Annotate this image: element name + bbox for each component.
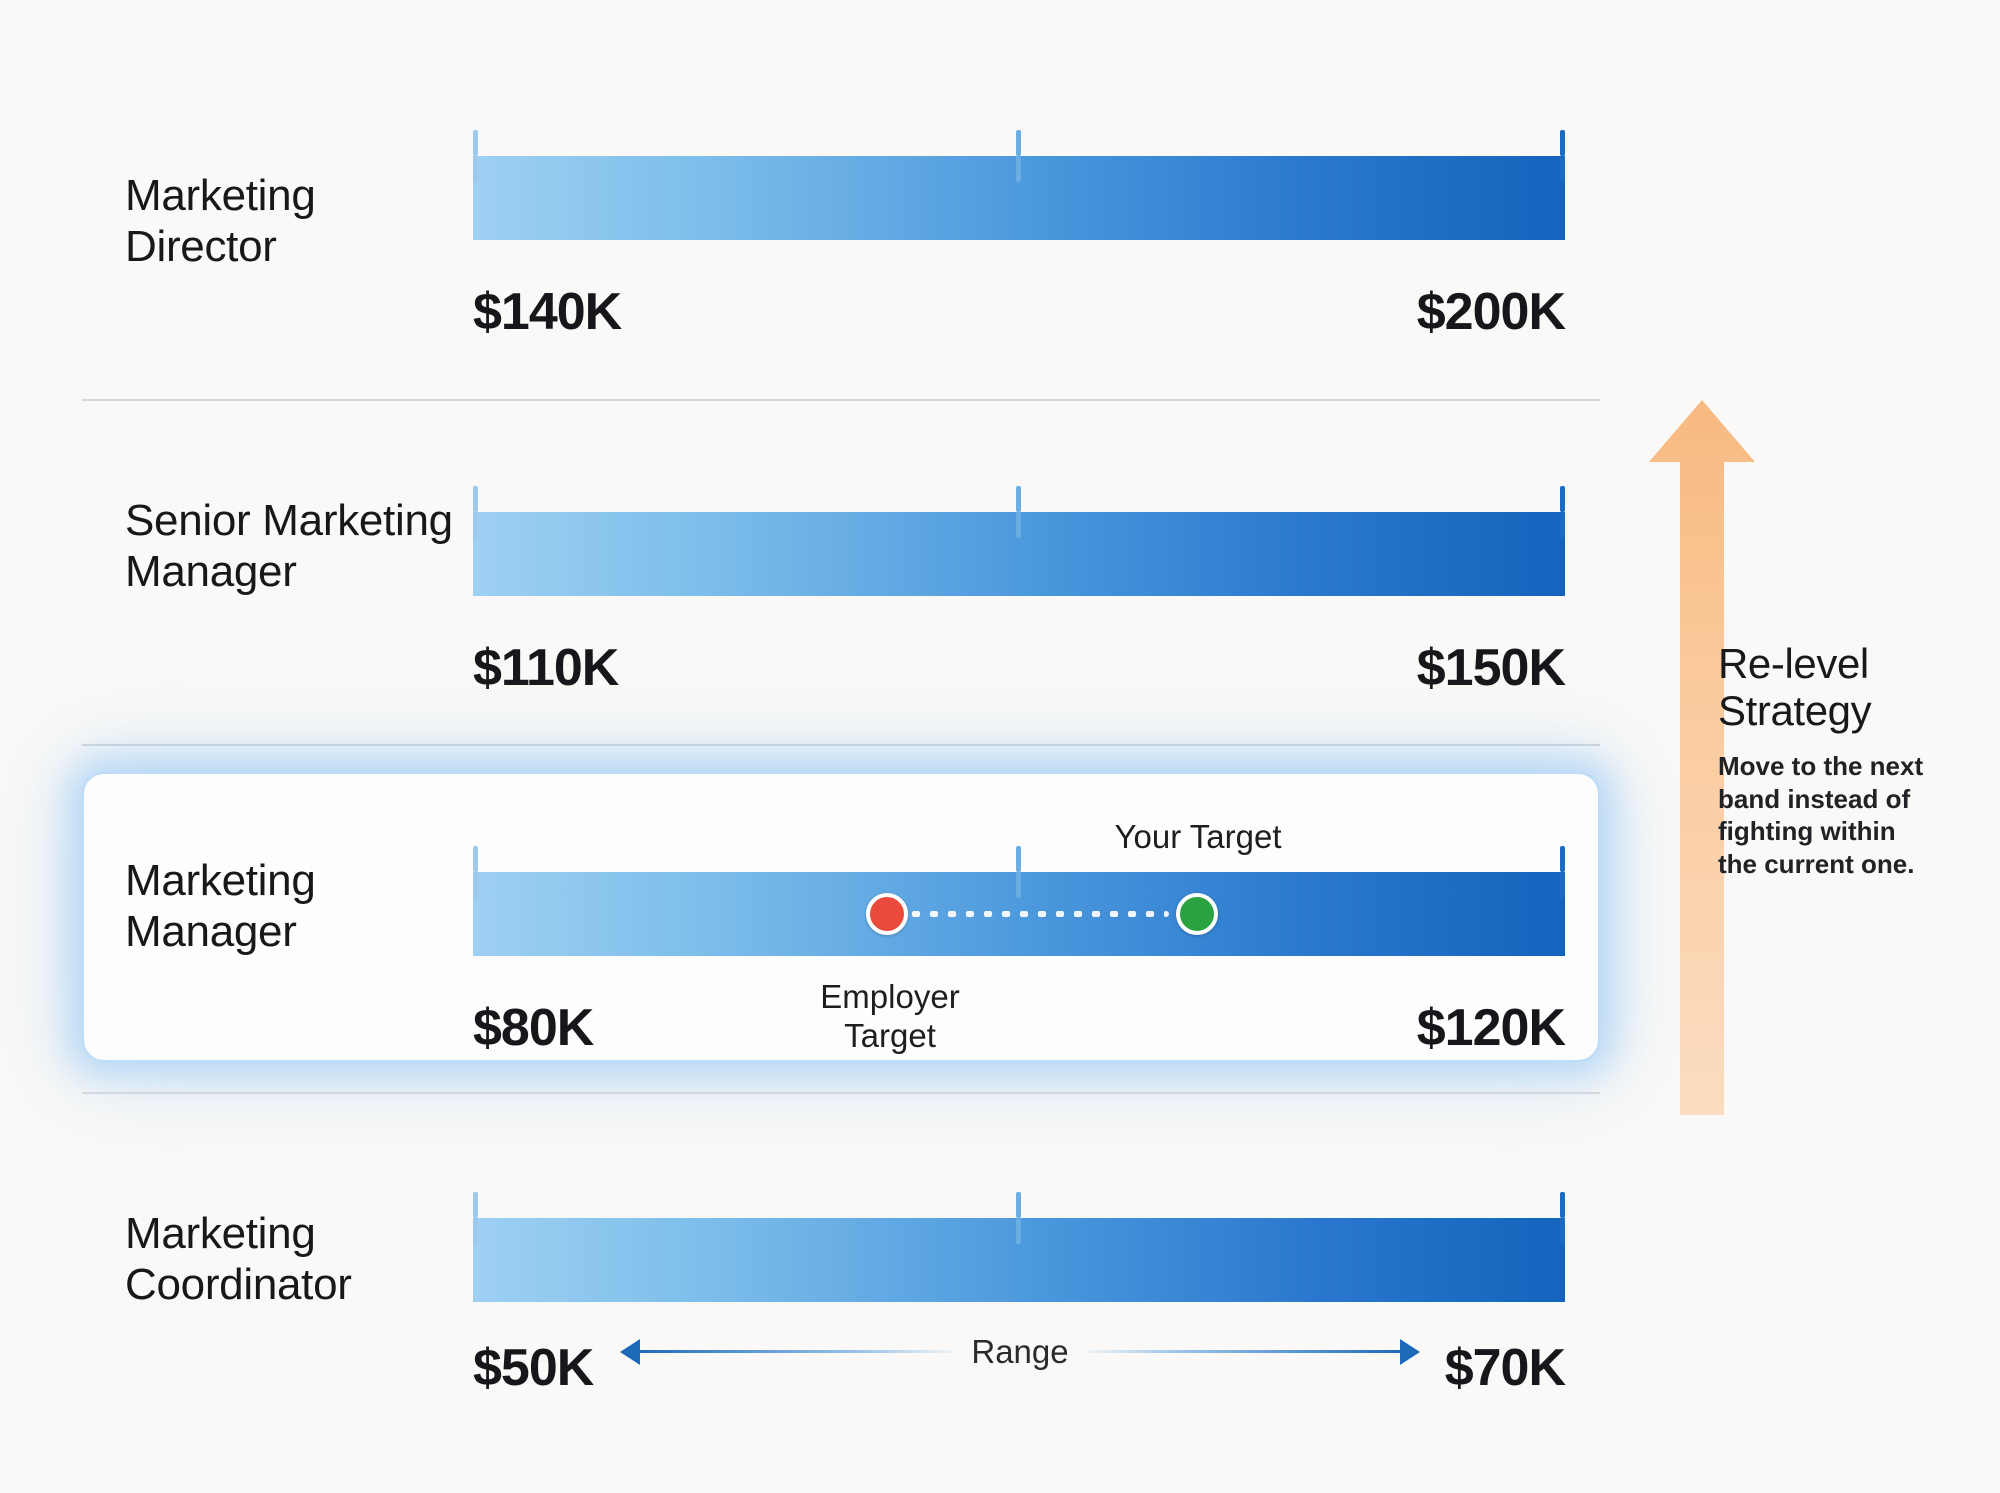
tick-max-bottom [1560, 872, 1565, 898]
tick-max-bottom [1560, 512, 1565, 538]
tick-mid-top [1016, 486, 1021, 512]
tick-min-top [473, 1192, 478, 1218]
strategy-description: Move to the next band instead of fightin… [1718, 750, 1968, 880]
tick-mid-bottom [1016, 512, 1021, 538]
employer-target-caption: Employer Target [760, 978, 1020, 1056]
tick-max-top [1560, 846, 1565, 872]
role-label-marketing-director: Marketing Director [125, 170, 455, 273]
tick-max-bottom [1560, 156, 1565, 182]
your-target-marker[interactable] [1176, 893, 1218, 935]
tick-min-top [473, 486, 478, 512]
tick-max-top [1560, 486, 1565, 512]
max-salary-senior-marketing-manager: $150K [1417, 638, 1565, 698]
tick-min-top [473, 846, 478, 872]
range-arrow-right-icon [1400, 1339, 1420, 1365]
min-salary-senior-marketing-manager: $110K [473, 638, 618, 698]
your-target-caption: Your Target [1048, 818, 1348, 857]
min-salary-marketing-manager: $80K [473, 998, 593, 1058]
tick-min-top [473, 130, 478, 156]
salary-band-chart: Marketing Director $140K $200K Senior Ma… [0, 0, 2000, 1493]
tick-mid-bottom [1016, 872, 1021, 898]
tick-mid-bottom [1016, 156, 1021, 182]
strategy-panel: Re-level Strategy Move to the next band … [1718, 640, 1968, 880]
max-salary-marketing-director: $200K [1417, 282, 1565, 342]
row-divider-2 [82, 744, 1600, 746]
tick-max-top [1560, 1192, 1565, 1218]
row-divider-1 [82, 399, 1600, 401]
marker-connector-line [907, 911, 1169, 917]
min-salary-marketing-director: $140K [473, 282, 621, 342]
range-line-right [1076, 1350, 1406, 1353]
max-salary-marketing-coordinator: $70K [1445, 1338, 1565, 1398]
range-label: Range [953, 1333, 1086, 1371]
range-line-left [634, 1350, 964, 1353]
tick-min-bottom [473, 872, 478, 898]
tick-mid-top [1016, 1192, 1021, 1218]
strategy-title: Re-level Strategy [1718, 640, 1968, 734]
row-divider-3 [82, 1092, 1600, 1094]
role-label-marketing-manager: Marketing Manager [125, 855, 455, 958]
employer-target-marker[interactable] [866, 893, 908, 935]
min-salary-marketing-coordinator: $50K [473, 1338, 593, 1398]
role-label-marketing-coordinator: Marketing Coordinator [125, 1208, 455, 1311]
role-label-senior-marketing-manager: Senior Marketing Manager [125, 495, 455, 598]
tick-min-bottom [473, 512, 478, 538]
range-annotation: Range [620, 1330, 1420, 1374]
tick-max-top [1560, 130, 1565, 156]
tick-min-bottom [473, 1218, 478, 1244]
tick-max-bottom [1560, 1218, 1565, 1244]
tick-mid-top [1016, 130, 1021, 156]
tick-mid-bottom [1016, 1218, 1021, 1244]
tick-min-bottom [473, 156, 478, 182]
max-salary-marketing-manager: $120K [1417, 998, 1565, 1058]
tick-mid-top [1016, 846, 1021, 872]
